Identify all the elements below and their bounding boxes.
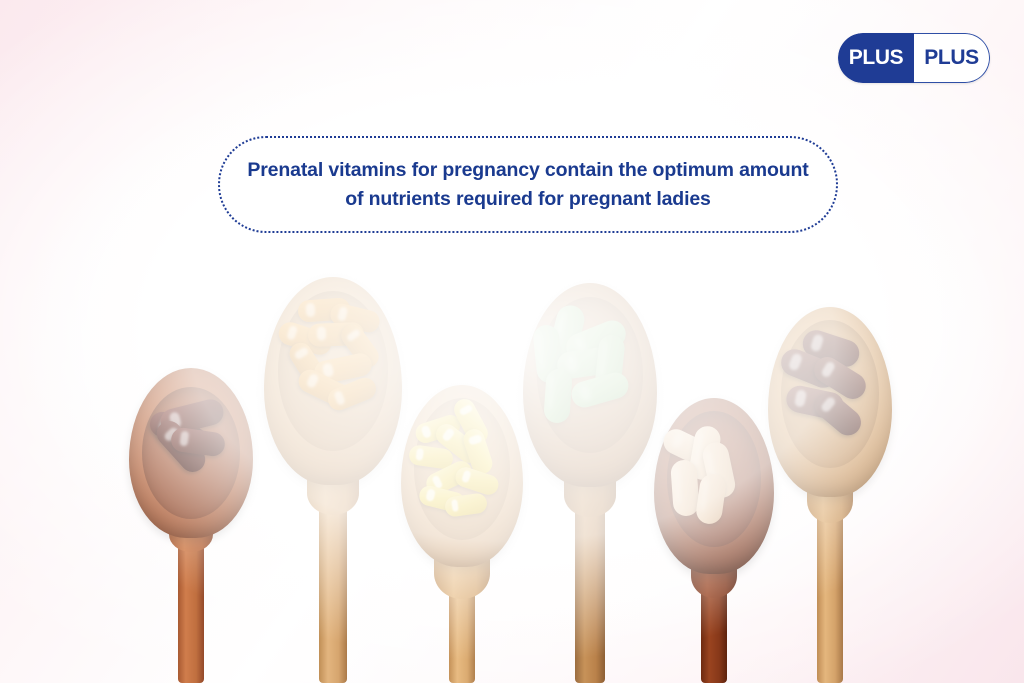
logo-right-half: PLUS xyxy=(914,33,990,83)
logo-left-half: PLUS xyxy=(838,33,914,83)
spoon-5 xyxy=(653,398,775,683)
spoon-2-handle xyxy=(319,492,347,683)
spoon-2 xyxy=(263,277,403,683)
pill xyxy=(543,368,573,424)
spoon-6-handle xyxy=(817,503,843,683)
spoon-5-bowl xyxy=(654,398,774,574)
spoon-1 xyxy=(128,368,254,683)
spoon-6-bowl xyxy=(768,307,892,497)
spoon-1-bowl xyxy=(129,368,253,538)
headline-text: Prenatal vitamins for pregnancy contain … xyxy=(246,156,810,213)
spoon-4 xyxy=(522,283,658,683)
spoon-4-handle xyxy=(575,495,605,683)
spoon-2-bowl xyxy=(264,277,402,485)
plus-plus-logo[interactable]: PLUS PLUS xyxy=(838,33,990,83)
logo-left-word: PLUS xyxy=(849,46,903,70)
spoon-3 xyxy=(399,385,525,683)
logo-right-word: PLUS xyxy=(924,46,978,70)
infographic-canvas: Prenatal vitamins for pregnancy contain … xyxy=(0,0,1024,683)
spoon-3-bowl xyxy=(401,385,523,567)
spoon-6 xyxy=(767,307,893,683)
spoon-4-bowl xyxy=(523,283,657,487)
pill xyxy=(670,459,700,517)
headline-callout-box: Prenatal vitamins for pregnancy contain … xyxy=(218,136,838,233)
